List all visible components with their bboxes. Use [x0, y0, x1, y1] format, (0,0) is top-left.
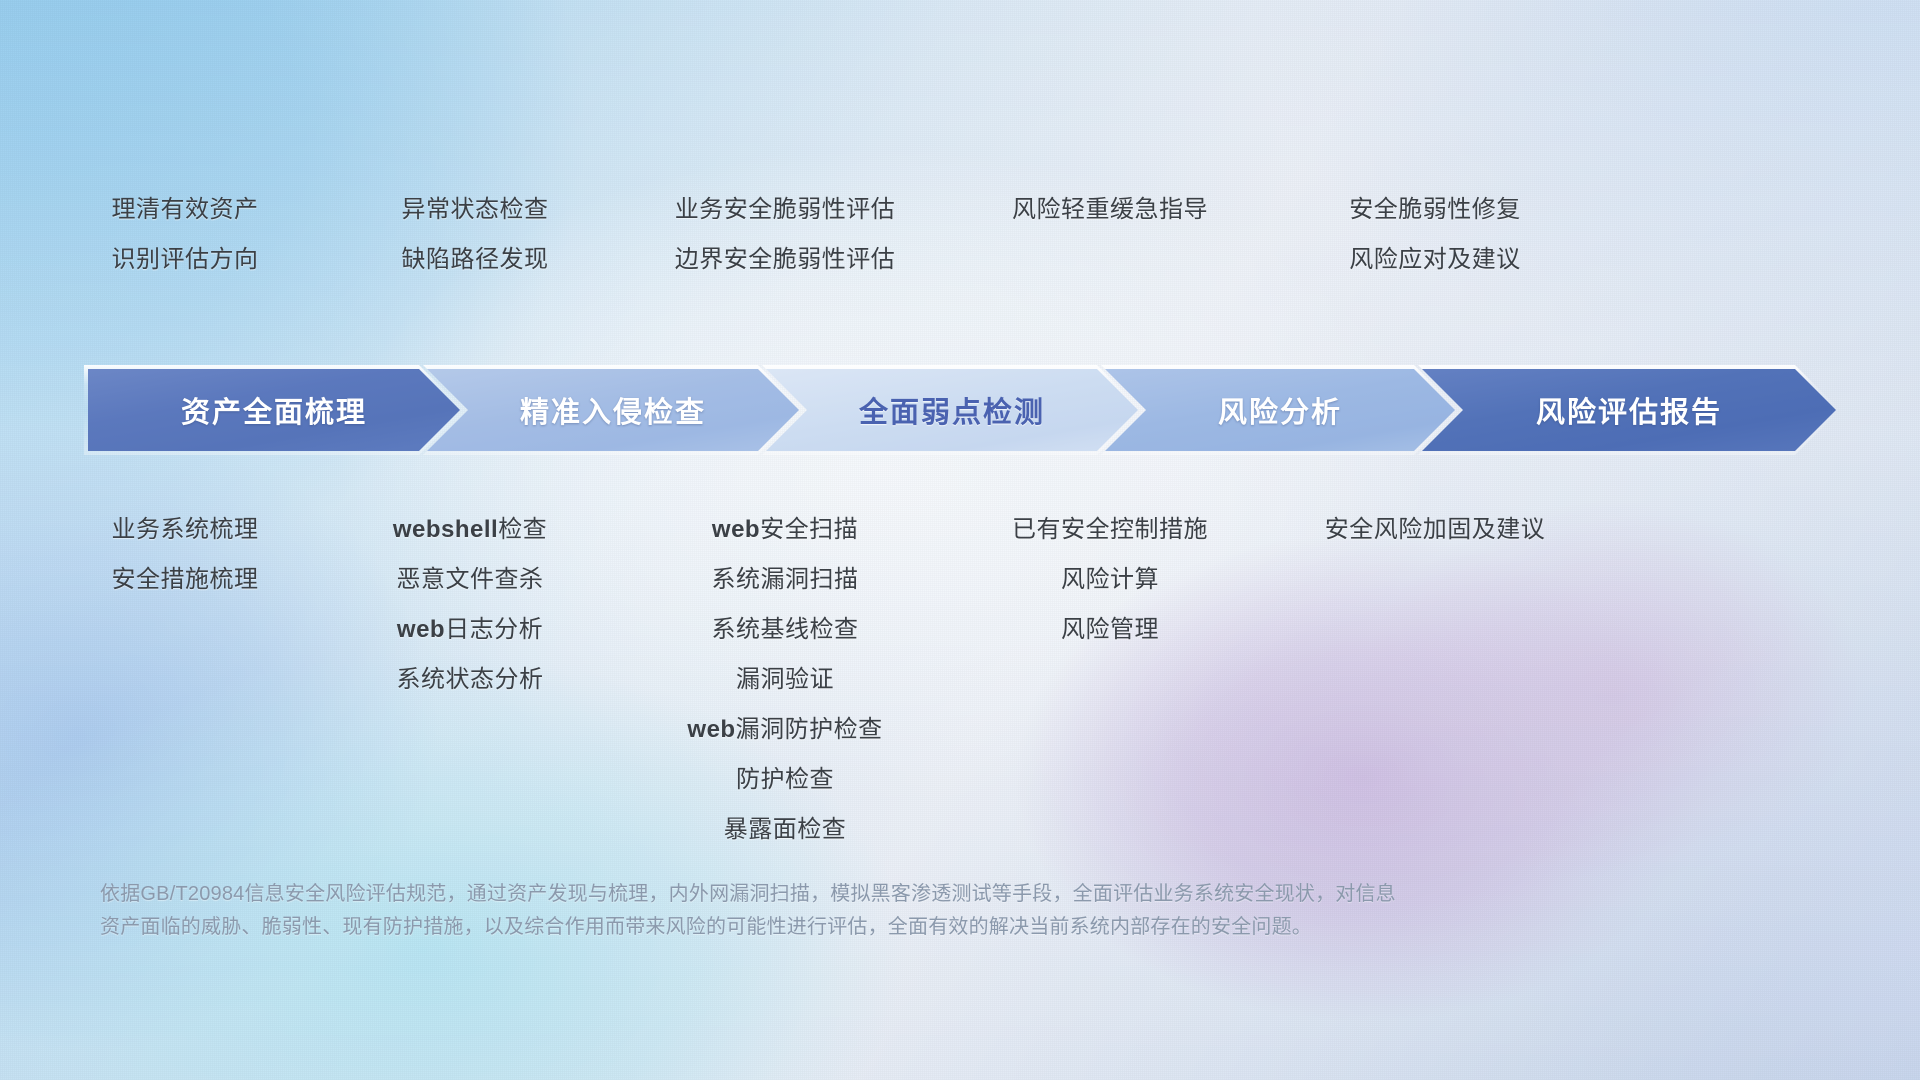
stage-label: 风险分析 — [1218, 389, 1342, 431]
top-items-asset: 理清有效资产 识别评估方向 — [40, 185, 330, 285]
bottom-item: 安全风险加固及建议 — [1265, 505, 1605, 555]
bottom-items-report: 安全风险加固及建议 — [1265, 505, 1605, 555]
top-item: 风险轻重缓急指导 — [955, 185, 1265, 235]
top-item: 业务安全脆弱性评估 — [620, 185, 950, 235]
stage-label: 资产全面梳理 — [181, 389, 367, 431]
bottom-items-intrusion: webshell检查 恶意文件查杀 web日志分析 系统状态分析 — [320, 505, 620, 705]
stage-chevron-weakness[interactable]: 全面弱点检测 — [766, 369, 1138, 451]
bottom-item: 系统状态分析 — [320, 655, 620, 705]
bottom-item: web安全扫描 — [620, 505, 950, 555]
bottom-items-risk-analysis: 已有安全控制措施 风险计算 风险管理 — [955, 505, 1265, 655]
footer-description: 依据GB/T20984信息安全风险评估规范，通过资产发现与梳理，内外网漏洞扫描，… — [100, 878, 1630, 944]
top-item: 风险应对及建议 — [1290, 235, 1580, 285]
stage-label: 风险评估报告 — [1536, 389, 1722, 431]
bottom-item: 系统漏洞扫描 — [620, 555, 950, 605]
top-items-weakness: 业务安全脆弱性评估 边界安全脆弱性评估 — [620, 185, 950, 285]
top-items-risk-analysis: 风险轻重缓急指导 — [955, 185, 1265, 235]
bottom-item: web日志分析 — [320, 605, 620, 655]
top-item: 识别评估方向 — [40, 235, 330, 285]
top-item: 边界安全脆弱性评估 — [620, 235, 950, 285]
top-item: 缺陷路径发现 — [330, 235, 620, 285]
bottom-item: 防护检查 — [620, 755, 950, 805]
process-stage-banner: 资产全面梳理 精准入侵检查 全面弱点检测 风险分析 风险评估报告 — [88, 369, 1836, 451]
bottom-item: web漏洞防护检查 — [620, 705, 950, 755]
top-item: 理清有效资产 — [40, 185, 330, 235]
bottom-items-asset: 业务系统梳理 安全措施梳理 — [40, 505, 330, 605]
top-item: 安全脆弱性修复 — [1290, 185, 1580, 235]
bottom-item: 系统基线检查 — [620, 605, 950, 655]
bottom-items-weakness: web安全扫描 系统漏洞扫描 系统基线检查 漏洞验证 web漏洞防护检查 防护检… — [620, 505, 950, 855]
stage-chevron-asset[interactable]: 资产全面梳理 — [88, 369, 460, 451]
bottom-item: 安全措施梳理 — [40, 555, 330, 605]
bottom-item: 风险计算 — [955, 555, 1265, 605]
bottom-item: 暴露面检查 — [620, 805, 950, 855]
bottom-item: 恶意文件查杀 — [320, 555, 620, 605]
stage-label: 精准入侵检查 — [520, 389, 706, 431]
stage-chevron-risk-analysis[interactable]: 风险分析 — [1105, 369, 1455, 451]
top-item: 异常状态检查 — [330, 185, 620, 235]
stage-label: 全面弱点检测 — [859, 389, 1045, 431]
stage-chevron-report[interactable]: 风险评估报告 — [1422, 369, 1836, 451]
bottom-item: 漏洞验证 — [620, 655, 950, 705]
footer-line-2: 资产面临的威胁、脆弱性、现有防护措施，以及综合作用而带来风险的可能性进行评估，全… — [100, 911, 1630, 944]
top-items-intrusion: 异常状态检查 缺陷路径发现 — [330, 185, 620, 285]
bottom-item: 业务系统梳理 — [40, 505, 330, 555]
bottom-item: webshell检查 — [320, 505, 620, 555]
footer-line-1: 依据GB/T20984信息安全风险评估规范，通过资产发现与梳理，内外网漏洞扫描，… — [100, 878, 1630, 911]
top-items-report: 安全脆弱性修复 风险应对及建议 — [1290, 185, 1580, 285]
bottom-item: 已有安全控制措施 — [955, 505, 1265, 555]
bottom-item: 风险管理 — [955, 605, 1265, 655]
stage-chevron-intrusion[interactable]: 精准入侵检查 — [427, 369, 799, 451]
